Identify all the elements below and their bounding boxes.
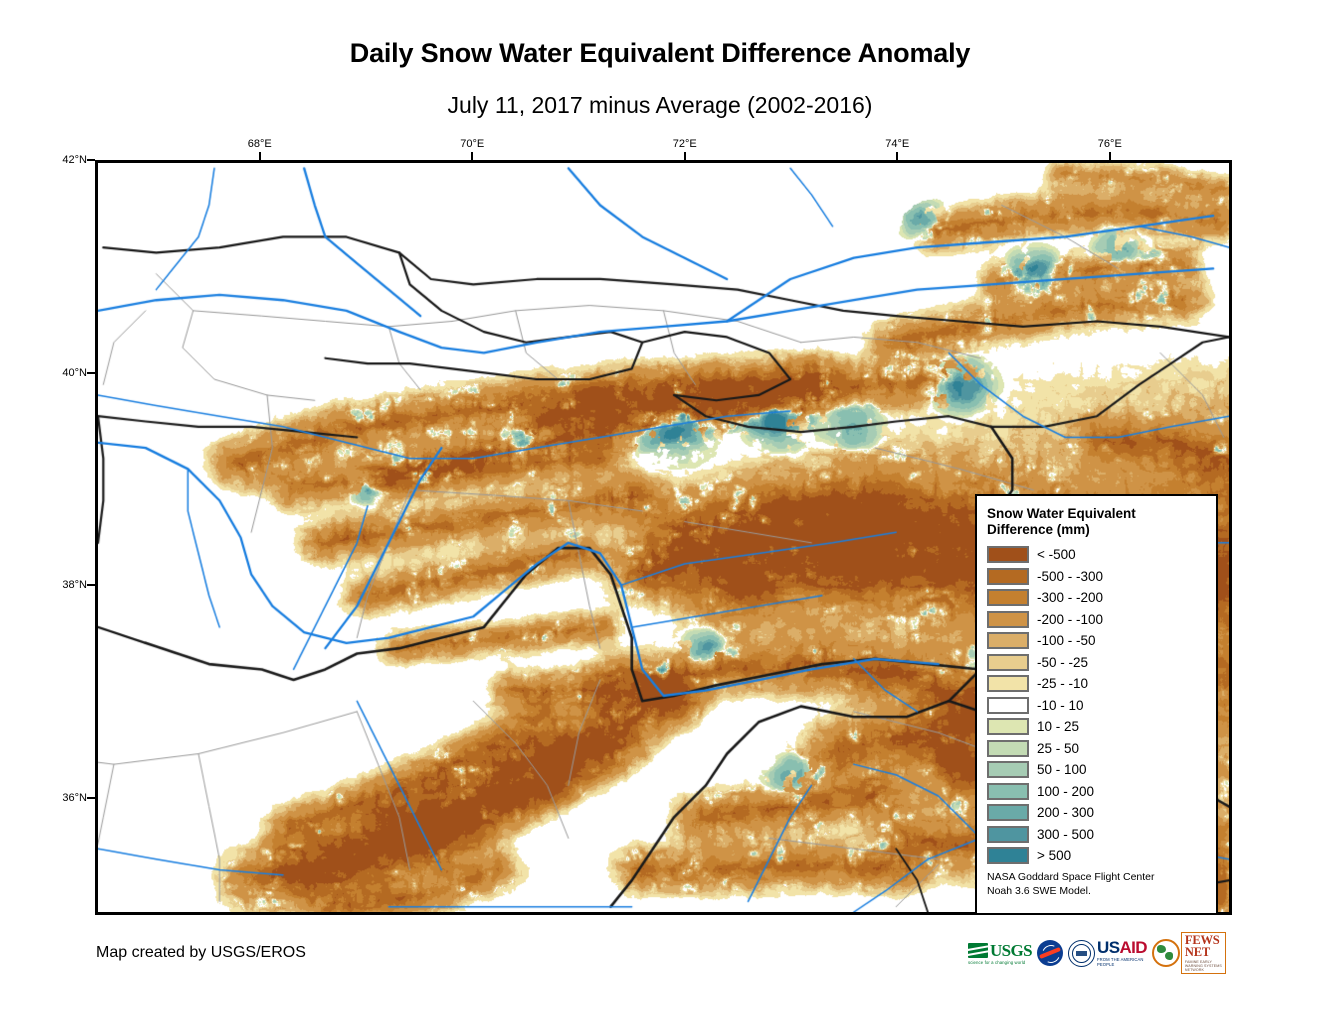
lat-label: 40°N	[43, 367, 87, 379]
legend-swatch	[987, 546, 1029, 563]
legend-swatch	[987, 761, 1029, 778]
logo-bar: USGS science for a changing world USAID …	[968, 934, 1226, 972]
lon-label: 76°E	[1098, 138, 1122, 150]
legend-label: -10 - 10	[1037, 698, 1084, 713]
lon-tick	[259, 152, 261, 160]
legend-swatch	[987, 675, 1029, 692]
legend-row: 200 - 300	[987, 802, 1208, 824]
fews-wordmark: FEWS NET	[1185, 934, 1222, 959]
legend-label: 300 - 500	[1037, 827, 1094, 842]
legend-swatch	[987, 654, 1029, 671]
legend-label: -200 - -100	[1037, 612, 1103, 627]
lat-label: 36°N	[43, 792, 87, 804]
legend-swatch	[987, 611, 1029, 628]
legend-label: -50 - -25	[1037, 655, 1088, 670]
legend-row: 50 - 100	[987, 759, 1208, 781]
nasa-meatball-icon	[1037, 940, 1063, 966]
legend-swatch	[987, 718, 1029, 735]
legend-label: -300 - -200	[1037, 590, 1103, 605]
lon-tick	[1109, 152, 1111, 160]
legend-label: 25 - 50	[1037, 741, 1079, 756]
legend-swatch	[987, 804, 1029, 821]
legend-label: < -500	[1037, 547, 1076, 562]
legend-row: -50 - -25	[987, 651, 1208, 673]
legend-swatch	[987, 697, 1029, 714]
lat-tick	[87, 584, 95, 586]
legend-label: > 500	[1037, 848, 1071, 863]
usaid-logo: USAID FROM THE AMERICAN PEOPLE	[1068, 936, 1147, 970]
legend-swatch	[987, 589, 1029, 606]
fews-logo: FEWS NET FAMINE EARLY WARNING SYSTEMS NE…	[1152, 936, 1226, 970]
nasa-logo	[1037, 936, 1063, 970]
legend-swatch	[987, 847, 1029, 864]
fews-globe-icon	[1152, 939, 1180, 967]
usgs-wave-icon	[968, 943, 988, 958]
legend-label: 200 - 300	[1037, 805, 1094, 820]
legend-title: Snow Water Equivalent Difference (mm)	[987, 506, 1208, 539]
usaid-wordmark: USAID	[1097, 939, 1147, 956]
lon-label: 70°E	[460, 138, 484, 150]
legend-label: -25 - -10	[1037, 676, 1088, 691]
legend-swatch	[987, 568, 1029, 585]
legend-row: 300 - 500	[987, 823, 1208, 845]
page-title: Daily Snow Water Equivalent Difference A…	[0, 38, 1320, 69]
usgs-logo: USGS science for a changing world	[968, 936, 1032, 970]
legend-row: -300 - -200	[987, 587, 1208, 609]
legend-title-line2: Difference (mm)	[987, 522, 1208, 538]
legend-row: 25 - 50	[987, 737, 1208, 759]
lon-tick	[684, 152, 686, 160]
lon-label: 68°E	[248, 138, 272, 150]
legend-panel: Snow Water Equivalent Difference (mm) < …	[975, 494, 1218, 915]
map-credit: Map created by USGS/EROS	[96, 944, 306, 962]
usgs-tagline: science for a changing world	[968, 960, 1032, 965]
usaid-tagline: FROM THE AMERICAN PEOPLE	[1097, 957, 1147, 967]
legend-row: > 500	[987, 845, 1208, 867]
legend-swatch	[987, 740, 1029, 757]
legend-credit-line1: NASA Goddard Space Flight Center	[987, 871, 1208, 885]
legend-row: -200 - -100	[987, 608, 1208, 630]
lat-label: 38°N	[43, 579, 87, 591]
legend-class-list: < -500-500 - -300-300 - -200-200 - -100-…	[987, 544, 1208, 867]
legend-row: < -500	[987, 544, 1208, 566]
legend-label: 10 - 25	[1037, 719, 1079, 734]
legend-row: -10 - 10	[987, 694, 1208, 716]
usaid-seal-icon	[1068, 940, 1095, 967]
lat-tick	[87, 159, 95, 161]
legend-swatch	[987, 783, 1029, 800]
lon-label: 74°E	[885, 138, 909, 150]
usgs-wordmark: USGS	[990, 942, 1032, 959]
legend-swatch	[987, 632, 1029, 649]
legend-label: -500 - -300	[1037, 569, 1103, 584]
legend-swatch	[987, 826, 1029, 843]
legend-row: 100 - 200	[987, 780, 1208, 802]
legend-label: -100 - -50	[1037, 633, 1096, 648]
legend-label: 100 - 200	[1037, 784, 1094, 799]
fews-tagline: FAMINE EARLY WARNING SYSTEMS NETWORK	[1185, 960, 1222, 972]
lon-tick	[896, 152, 898, 160]
lat-tick	[87, 372, 95, 374]
lon-label: 72°E	[673, 138, 697, 150]
legend-row: -100 - -50	[987, 630, 1208, 652]
lon-tick	[471, 152, 473, 160]
legend-credit-line2: Noah 3.6 SWE Model.	[987, 885, 1208, 899]
legend-row: -500 - -300	[987, 565, 1208, 587]
lat-label: 42°N	[43, 154, 87, 166]
legend-credit: NASA Goddard Space Flight Center Noah 3.…	[987, 871, 1208, 899]
legend-row: -25 - -10	[987, 673, 1208, 695]
legend-row: 10 - 25	[987, 716, 1208, 738]
lat-tick	[87, 797, 95, 799]
page-subtitle: July 11, 2017 minus Average (2002-2016)	[0, 92, 1320, 119]
legend-title-line1: Snow Water Equivalent	[987, 506, 1208, 522]
legend-label: 50 - 100	[1037, 762, 1087, 777]
